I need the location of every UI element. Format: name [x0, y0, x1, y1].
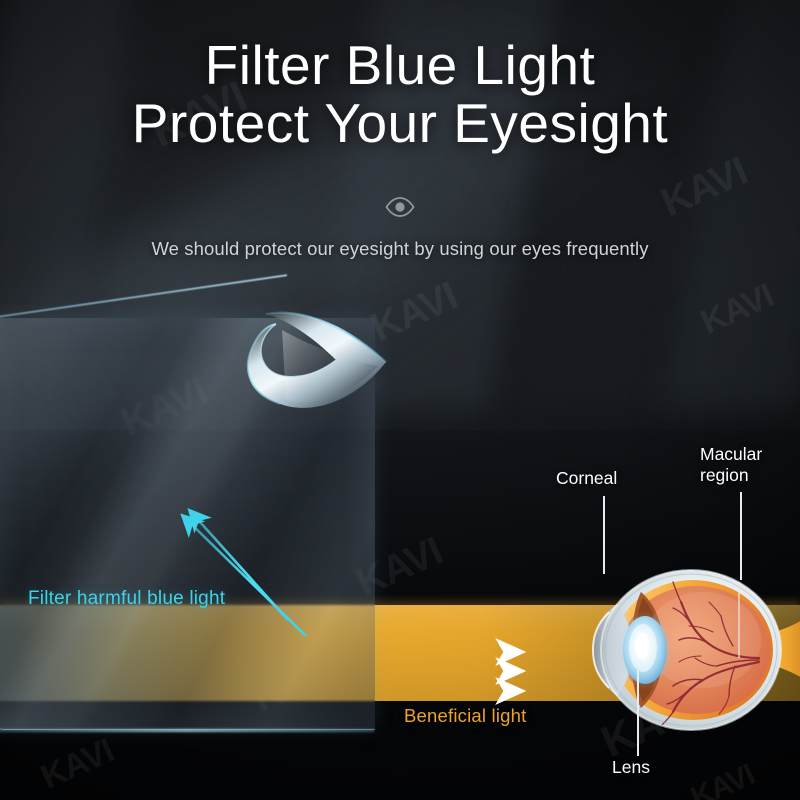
- film-bottom-edge-glow: [0, 729, 374, 732]
- leader-line-corneal: [603, 496, 605, 574]
- label-lens: Lens: [612, 757, 650, 778]
- page-title: Filter Blue Light Protect Your Eyesight: [0, 36, 800, 153]
- headline-line-1: Filter Blue Light: [0, 36, 800, 94]
- subtitle: We should protect our eyesight by using …: [0, 238, 800, 260]
- label-macular-line-1: Macular: [700, 444, 762, 464]
- label-macular-line-2: region: [700, 465, 749, 485]
- label-macular-region: Macular region: [700, 444, 762, 487]
- film-peeling-corner: [236, 308, 406, 428]
- headline-line-2: Protect Your Eyesight: [0, 94, 800, 152]
- eye-anatomy-diagram: [583, 562, 800, 740]
- leader-line-macular: [740, 492, 742, 580]
- leader-line-lens: [637, 668, 639, 756]
- label-corneal: Corneal: [556, 468, 617, 489]
- product-infographic: KAVIKAVIKAVIKAVIKAVIKAVIKAVIKAVIKAVIKAVI…: [0, 0, 800, 800]
- filter-blue-light-label: Filter harmful blue light: [28, 588, 225, 610]
- beneficial-light-label: Beneficial light: [404, 705, 527, 727]
- screen-protector-film: [0, 318, 375, 730]
- eye-icon: [0, 197, 800, 222]
